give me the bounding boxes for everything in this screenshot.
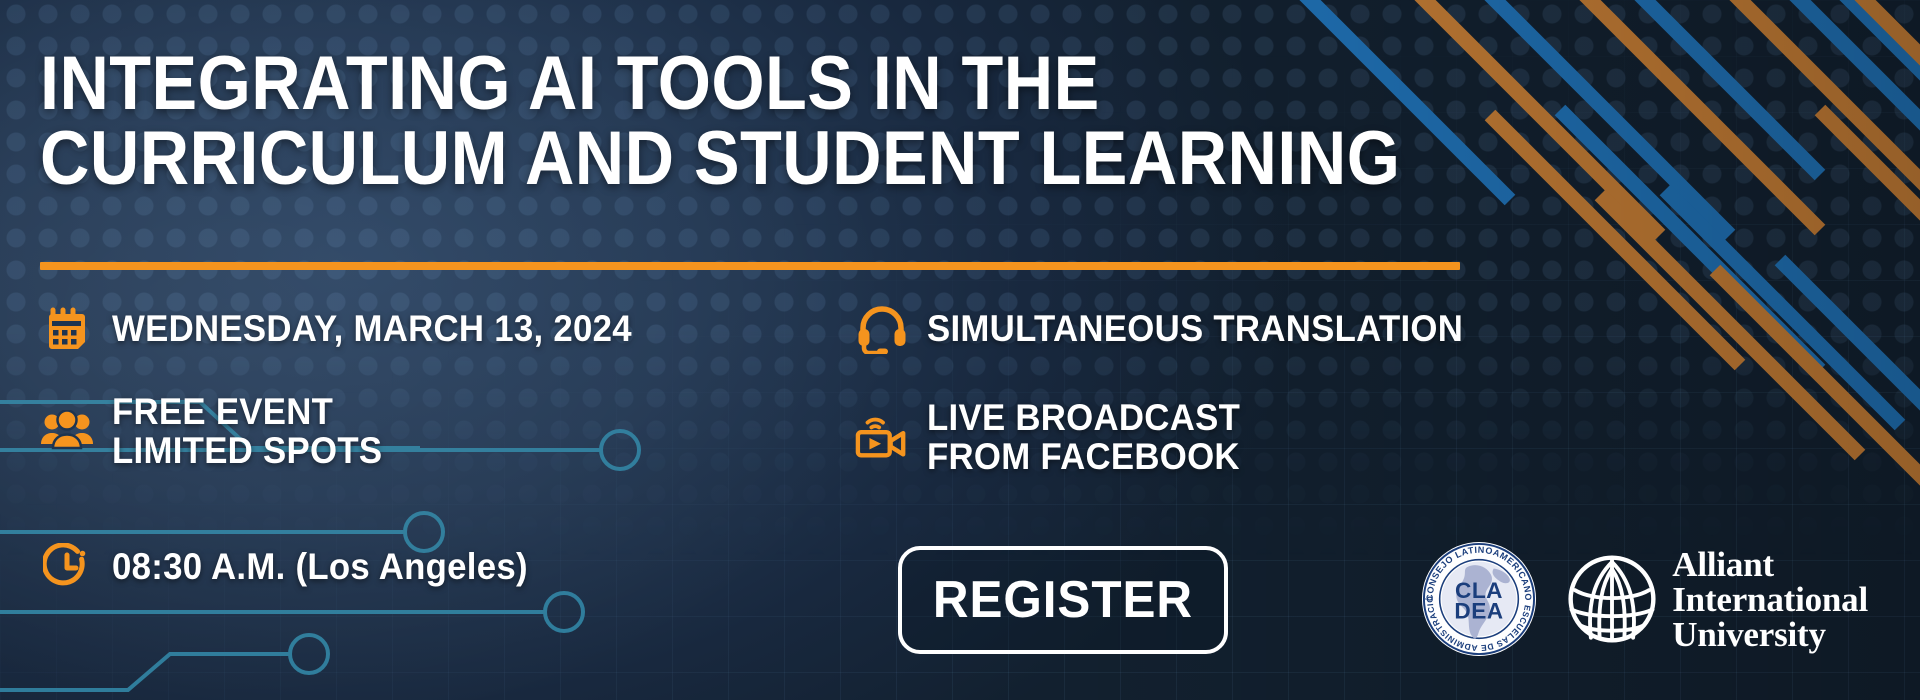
info-item-translation: SIMULTANEOUS TRANSLATION [855, 296, 1635, 362]
register-button[interactable]: REGISTER [898, 546, 1228, 654]
register-button-label: REGISTER [933, 570, 1193, 630]
info-item-live-broadcast-label: LIVE BROADCAST FROM FACEBOOK [927, 398, 1240, 476]
group-people-icon [40, 404, 94, 458]
info-item-date: WEDNESDAY, MARCH 13, 2024 [40, 296, 940, 362]
info-column-right: SIMULTANEOUS TRANSLATION LIVE BROADCAST … [855, 296, 1635, 478]
info-item-translation-label: SIMULTANEOUS TRANSLATION [927, 309, 1463, 348]
info-item-time-label: 08:30 A.M. (Los Angeles) [112, 547, 528, 586]
calendar-icon [40, 302, 94, 356]
title-line-1: INTEGRATING AI TOOLS IN THE [40, 46, 1372, 121]
alliant-globe-icon [1568, 555, 1656, 643]
info-item-free-event: FREE EVENT LIMITED SPOTS [40, 390, 940, 472]
orange-divider [40, 262, 1460, 270]
page-title: INTEGRATING AI TOOLS IN THE CURRICULUM A… [40, 46, 1372, 196]
title-line-2: CURRICULUM AND STUDENT LEARNING [40, 121, 1372, 196]
live-broadcast-camera-icon [855, 410, 909, 464]
info-item-free-event-label: FREE EVENT LIMITED SPOTS [112, 392, 382, 470]
info-item-date-label: WEDNESDAY, MARCH 13, 2024 [112, 309, 632, 348]
svg-text:DEA: DEA [1455, 599, 1504, 624]
info-item-live-broadcast: LIVE BROADCAST FROM FACEBOOK [855, 396, 1635, 478]
info-item-time: 08:30 A.M. (Los Angeles) [40, 534, 940, 600]
logo-group: · CONSEJO LATINOAMERICANO · DE ESCUELAS … [1420, 540, 1868, 658]
event-banner: INTEGRATING AI TOOLS IN THE CURRICULUM A… [0, 0, 1920, 700]
clock-icon [40, 540, 94, 594]
alliant-logo-text: Alliant International University [1672, 547, 1868, 652]
headset-icon [855, 302, 909, 356]
cladea-logo: · CONSEJO LATINOAMERICANO · DE ESCUELAS … [1420, 540, 1538, 658]
info-column-left: WEDNESDAY, MARCH 13, 2024 FREE EVENT LIM… [40, 296, 940, 600]
alliant-logo: Alliant International University [1568, 547, 1868, 652]
